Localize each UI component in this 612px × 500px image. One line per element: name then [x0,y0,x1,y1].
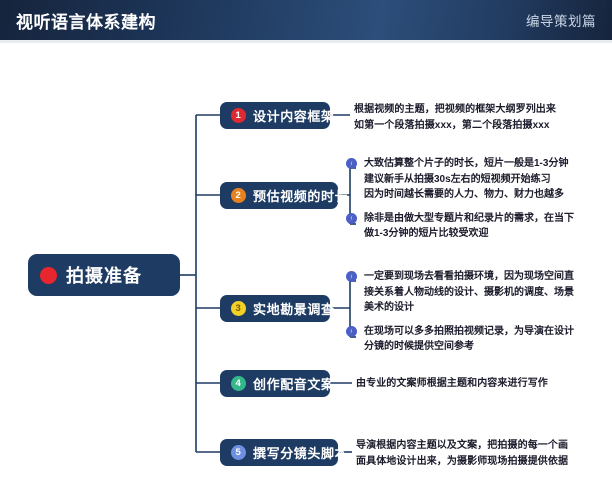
page-title: 视听语言体系建构 [16,8,156,33]
badge-number-2: 2 [231,188,246,203]
detail-line: 建议新手从拍摄30s左右的短视频开始练习 [364,174,551,185]
detail-group-2: 大致估算整个片子的时长，短片一般是1-3分钟 建议新手从拍摄30s左右的短视频开… [346,156,574,250]
detail-line: 面具体地设计出来，为摄影师现场拍摄提供依据 [356,454,568,470]
badge-number-4: 4 [231,376,246,391]
detail-text: 除非是由做大型专题片和纪录片的需求，在当下 做1-3分钟的短片比较受欢迎 [364,211,574,242]
detail-text: 在现场可以多多拍照拍视频记录，为导演在设计 分镜的时候提供空间参考 [364,324,574,355]
branch-node-1-label: 设计内容框架 [253,106,335,125]
header-subtitle: 编导策划篇 [526,10,596,30]
bolt-bullet-icon [346,213,357,224]
detail-line: 由专业的文案师根据主题和内容来进行写作 [356,376,548,392]
branch-node-5-label: 撰写分镜头脚本 [253,443,348,462]
detail-5: 导演根据内容主题以及文案，把拍摄的每一个画 面具体地设计出来，为摄影师现场拍摄提… [356,438,568,469]
detail-bullet-row: 除非是由做大型专题片和纪录片的需求，在当下 做1-3分钟的短片比较受欢迎 [346,211,574,242]
detail-line: 做1-3分钟的短片比较受欢迎 [364,228,488,239]
bolt-bullet-icon [346,158,357,169]
branch-node-1[interactable]: 1 设计内容框架 [220,102,330,129]
detail-line: 导演根据内容主题以及文案，把拍摄的每一个画 [356,438,568,454]
badge-number-3: 3 [231,301,246,316]
root-node[interactable]: 拍摄准备 [28,254,180,296]
detail-line: 在现场可以多多拍照拍视频记录，为导演在设计 [364,326,574,337]
page-header: 视听语言体系建构 编导策划篇 [0,0,612,40]
bolt-bullet-icon [346,271,357,282]
red-circle-icon [40,267,57,284]
bolt-bullet-icon [346,326,357,337]
branch-node-3[interactable]: 3 实地勘景调查 [220,295,330,322]
detail-bullet-row: 大致估算整个片子的时长，短片一般是1-3分钟 建议新手从拍摄30s左右的短视频开… [346,156,574,203]
detail-line: 因为时间越长需要的人力、物力、财力也越多 [364,189,564,200]
detail-text: 大致估算整个片子的时长，短片一般是1-3分钟 建议新手从拍摄30s左右的短视频开… [364,156,568,203]
detail-bullet-row: 一定要到现场去看看拍摄环境，因为现场空间直 接关系着人物动线的设计、摄影机的调度… [346,269,574,316]
detail-text: 一定要到现场去看看拍摄环境，因为现场空间直 接关系着人物动线的设计、摄影机的调度… [364,269,574,316]
detail-line: 根据视频的主题，把视频的框架大纲罗列出来 [354,102,556,118]
detail-line: 一定要到现场去看看拍摄环境，因为现场空间直 [364,271,574,282]
badge-number-1: 1 [231,108,246,123]
branch-node-4-label: 创作配音文案 [253,374,335,393]
detail-line: 除非是由做大型专题片和纪录片的需求，在当下 [364,213,574,224]
detail-line: 分镜的时候提供空间参考 [364,341,474,352]
branch-node-3-label: 实地勘景调查 [253,299,335,318]
detail-bullet-row: 在现场可以多多拍照拍视频记录，为导演在设计 分镜的时候提供空间参考 [346,324,574,355]
branch-node-2-label: 预估视频的时长 [253,186,348,205]
branch-node-4[interactable]: 4 创作配音文案 [220,370,330,397]
branch-node-5[interactable]: 5 撰写分镜头脚本 [220,439,338,466]
root-node-label: 拍摄准备 [66,262,142,288]
detail-4: 由专业的文案师根据主题和内容来进行写作 [356,376,548,392]
mindmap-canvas: 拍摄准备 1 设计内容框架 根据视频的主题，把视频的框架大纲罗列出来 如第一个段… [0,43,612,500]
badge-number-5: 5 [231,445,246,460]
detail-line: 如第一个段落拍摄xxx，第二个段落拍摄xxx [354,118,556,134]
detail-1: 根据视频的主题，把视频的框架大纲罗列出来 如第一个段落拍摄xxx，第二个段落拍摄… [354,102,556,133]
detail-group-3: 一定要到现场去看看拍摄环境，因为现场空间直 接关系着人物动线的设计、摄影机的调度… [346,269,574,363]
detail-line: 接关系着人物动线的设计、摄影机的调度、场景 [364,287,574,298]
detail-line: 美术的设计 [364,302,414,313]
branch-node-2[interactable]: 2 预估视频的时长 [220,182,338,209]
detail-line: 大致估算整个片子的时长，短片一般是1-3分钟 [364,158,568,169]
